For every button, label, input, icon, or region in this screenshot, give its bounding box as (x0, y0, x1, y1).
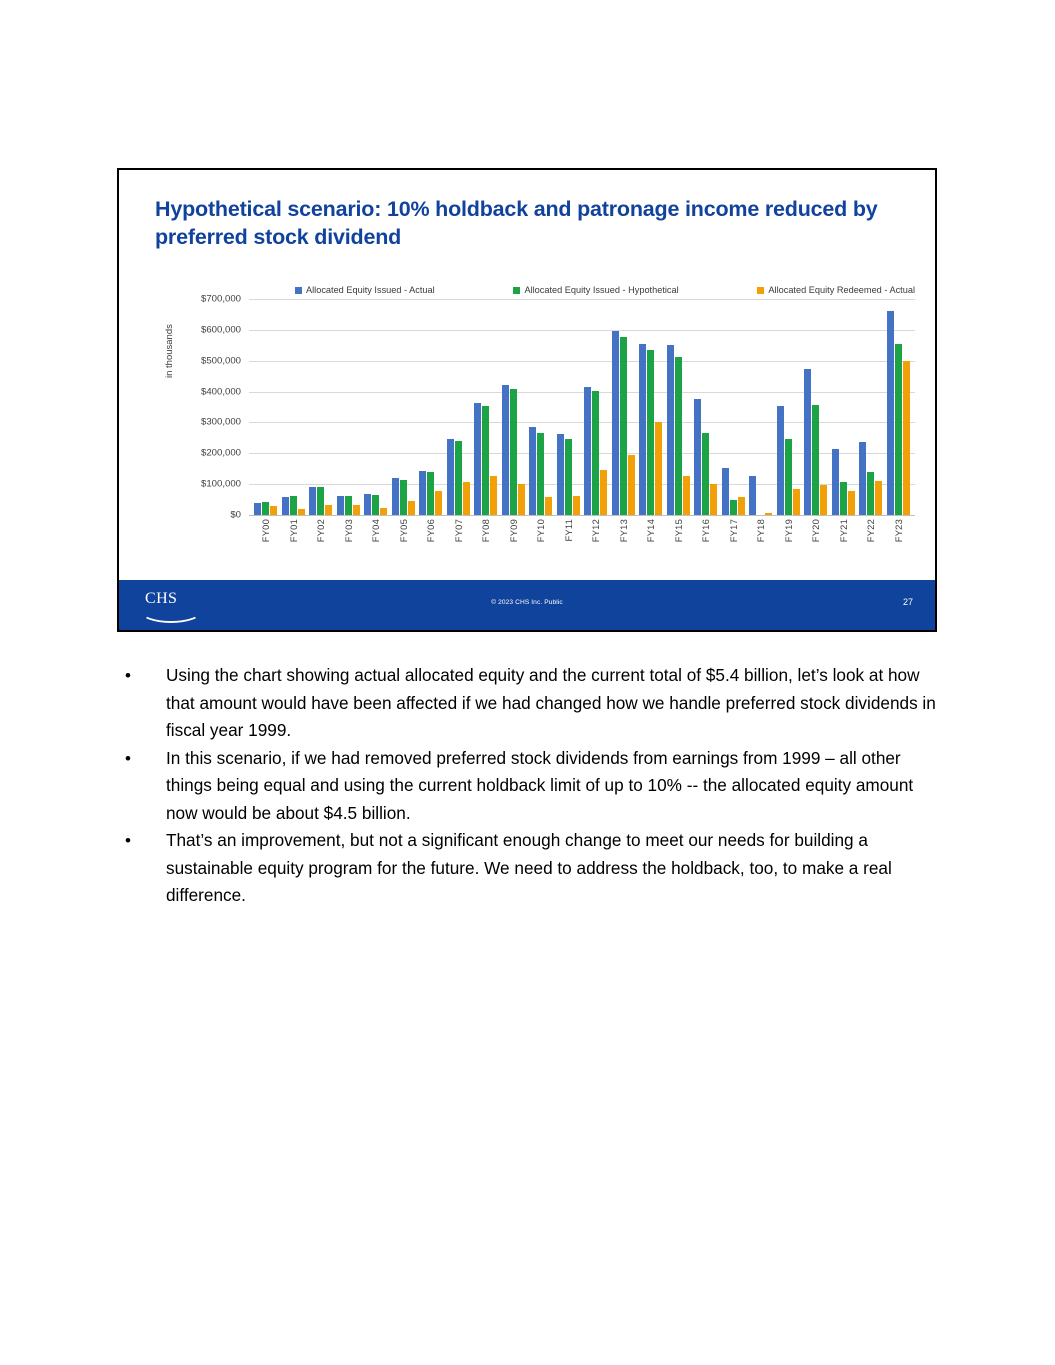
bar-group (445, 299, 473, 515)
chart-bars (249, 299, 915, 515)
bullet-marker-icon: • (120, 745, 166, 773)
bar (463, 482, 470, 515)
bar (639, 344, 646, 515)
y-axis-tick-label: $300,000 (201, 417, 241, 428)
bar-group (665, 299, 693, 515)
bar (262, 502, 269, 515)
bar (482, 406, 489, 515)
bar (887, 311, 894, 515)
bullet-text: That’s an improvement, but not a signifi… (166, 827, 940, 910)
legend-label: Allocated Equity Issued - Actual (306, 285, 435, 295)
bar (683, 476, 690, 515)
bar-group (830, 299, 858, 515)
bar-group (857, 299, 885, 515)
legend-label: Allocated Equity Redeemed - Actual (768, 285, 915, 295)
legend-item-actual-redeemed: Allocated Equity Redeemed - Actual (757, 285, 915, 295)
bar-group (802, 299, 830, 515)
page-title: Hypothetical scenario: 10% holdback and … (155, 196, 895, 252)
y-axis-tick-label: $100,000 (201, 479, 241, 490)
bar-group (252, 299, 280, 515)
bullet-item: •That’s an improvement, but not a signif… (120, 827, 940, 910)
bar (848, 491, 855, 515)
bar (820, 485, 827, 515)
bar (804, 369, 811, 515)
x-axis-tick-label: FY14 (637, 519, 665, 565)
bar (380, 508, 387, 515)
bar (749, 476, 756, 515)
x-axis-tick-label: FY05 (390, 519, 418, 565)
y-axis-tick-labels: $700,000$600,000$500,000$400,000$300,000… (179, 299, 245, 515)
bullet-item: •In this scenario, if we had removed pre… (120, 745, 940, 828)
bar (529, 427, 536, 515)
bar-group (335, 299, 363, 515)
bar (557, 434, 564, 515)
bar-group (500, 299, 528, 515)
bar (710, 484, 717, 515)
legend-label: Allocated Equity Issued - Hypothetical (524, 285, 678, 295)
x-axis-tick-label: FY13 (610, 519, 638, 565)
speaker-notes: •Using the chart showing actual allocate… (120, 662, 940, 910)
bullet-marker-icon: • (120, 662, 166, 690)
x-axis-tick-label: FY22 (857, 519, 885, 565)
bar (667, 345, 674, 515)
bar (655, 422, 662, 515)
bar (364, 494, 371, 515)
bar (840, 482, 847, 515)
bar-group (555, 299, 583, 515)
bar (447, 439, 454, 515)
bar-group (472, 299, 500, 515)
bar (408, 501, 415, 515)
chart-legend: Allocated Equity Issued - Actual Allocat… (295, 282, 915, 298)
bullet-item: •Using the chart showing actual allocate… (120, 662, 940, 745)
bar (325, 505, 332, 515)
bar-group (775, 299, 803, 515)
bar (372, 495, 379, 515)
bar (702, 433, 709, 515)
slide-footer: CHS © 2023 CHS Inc. Public 27 (119, 580, 935, 630)
x-axis-tick-label: FY04 (362, 519, 390, 565)
x-axis-tick-label: FY06 (417, 519, 445, 565)
x-axis-tick-label: FY01 (280, 519, 308, 565)
bar (282, 497, 289, 516)
legend-item-hypothetical-issued: Allocated Equity Issued - Hypothetical (513, 285, 678, 295)
bar (694, 399, 701, 515)
bar (793, 489, 800, 515)
y-axis-tick-label: $500,000 (201, 355, 241, 366)
bar (875, 481, 882, 515)
bar (675, 357, 682, 515)
bar (612, 331, 619, 515)
copyright-notice: © 2023 CHS Inc. Public (119, 599, 935, 606)
bar (537, 433, 544, 515)
legend-swatch-icon (757, 287, 764, 294)
bar-group (307, 299, 335, 515)
bar (765, 513, 772, 515)
legend-item-actual-issued: Allocated Equity Issued - Actual (295, 285, 435, 295)
bar (584, 387, 591, 515)
bar (592, 391, 599, 515)
bar (345, 496, 352, 515)
bullet-text: In this scenario, if we had removed pref… (166, 745, 940, 828)
bar (455, 441, 462, 515)
y-axis-tick-label: $200,000 (201, 448, 241, 459)
bar (620, 337, 627, 515)
bar (337, 496, 344, 515)
bar (730, 500, 737, 515)
y-axis-tick-label: $600,000 (201, 324, 241, 335)
x-axis-tick-label: FY11 (555, 519, 583, 565)
bar (903, 361, 910, 515)
bar (392, 478, 399, 515)
bar-group (692, 299, 720, 515)
bar (427, 472, 434, 515)
bar (785, 439, 792, 515)
x-axis-tick-label: FY15 (665, 519, 693, 565)
bar (832, 449, 839, 515)
page-number: 27 (903, 597, 913, 607)
y-axis-tick-label: $400,000 (201, 386, 241, 397)
x-axis-tick-label: FY00 (252, 519, 280, 565)
bar (474, 403, 481, 515)
bar (777, 406, 784, 515)
bar (895, 344, 902, 515)
bar-group (582, 299, 610, 515)
gridline (249, 515, 915, 516)
bar (647, 350, 654, 515)
bar (435, 491, 442, 515)
bar (628, 455, 635, 515)
bar-group (390, 299, 418, 515)
bar (600, 470, 607, 515)
bar (812, 405, 819, 515)
x-axis-tick-label: FY07 (445, 519, 473, 565)
x-axis-tick-label: FY16 (692, 519, 720, 565)
x-axis-tick-label: FY08 (472, 519, 500, 565)
bar (400, 480, 407, 515)
x-axis-tick-label: FY20 (802, 519, 830, 565)
bar-group (362, 299, 390, 515)
bar (317, 487, 324, 515)
bar (510, 389, 517, 515)
y-axis-tick-label: $700,000 (201, 294, 241, 305)
legend-swatch-icon (295, 287, 302, 294)
bar-group (720, 299, 748, 515)
bar (290, 496, 297, 515)
x-axis-tick-labels: FY00FY01FY02FY03FY04FY05FY06FY07FY08FY09… (249, 519, 915, 565)
bullet-marker-icon: • (120, 827, 166, 855)
x-axis-tick-label: FY18 (747, 519, 775, 565)
grouped-bar-chart: Allocated Equity Issued - Actual Allocat… (147, 282, 915, 572)
bar-group (417, 299, 445, 515)
bar (502, 385, 509, 515)
x-axis-tick-label: FY09 (500, 519, 528, 565)
bar-group (885, 299, 913, 515)
bar (738, 497, 745, 515)
bar-group (280, 299, 308, 515)
x-axis-tick-label: FY10 (527, 519, 555, 565)
bar (859, 442, 866, 515)
bar (722, 468, 729, 515)
bar (867, 472, 874, 516)
bar (518, 484, 525, 515)
legend-swatch-icon (513, 287, 520, 294)
bar (419, 471, 426, 515)
x-axis-tick-label: FY21 (830, 519, 858, 565)
bar (270, 506, 277, 515)
bar (353, 505, 360, 515)
bar (573, 496, 580, 515)
bar (298, 509, 305, 515)
bar (545, 497, 552, 516)
bar (490, 476, 497, 515)
bar-group (610, 299, 638, 515)
x-axis-tick-label: FY17 (720, 519, 748, 565)
x-axis-tick-label: FY19 (775, 519, 803, 565)
x-axis-tick-label: FY02 (307, 519, 335, 565)
y-axis-title: in thousands (164, 324, 175, 378)
chart-plot-area (249, 299, 915, 515)
bullet-text: Using the chart showing actual allocated… (166, 662, 940, 745)
bar-group (747, 299, 775, 515)
bar (254, 503, 261, 515)
bar-group (527, 299, 555, 515)
presentation-slide: Hypothetical scenario: 10% holdback and … (117, 168, 937, 632)
bar (309, 487, 316, 515)
x-axis-tick-label: FY03 (335, 519, 363, 565)
bar-group (637, 299, 665, 515)
x-axis-tick-label: FY12 (582, 519, 610, 565)
bar (565, 439, 572, 515)
x-axis-tick-label: FY23 (885, 519, 913, 565)
y-axis-tick-label: $0 (230, 510, 241, 521)
